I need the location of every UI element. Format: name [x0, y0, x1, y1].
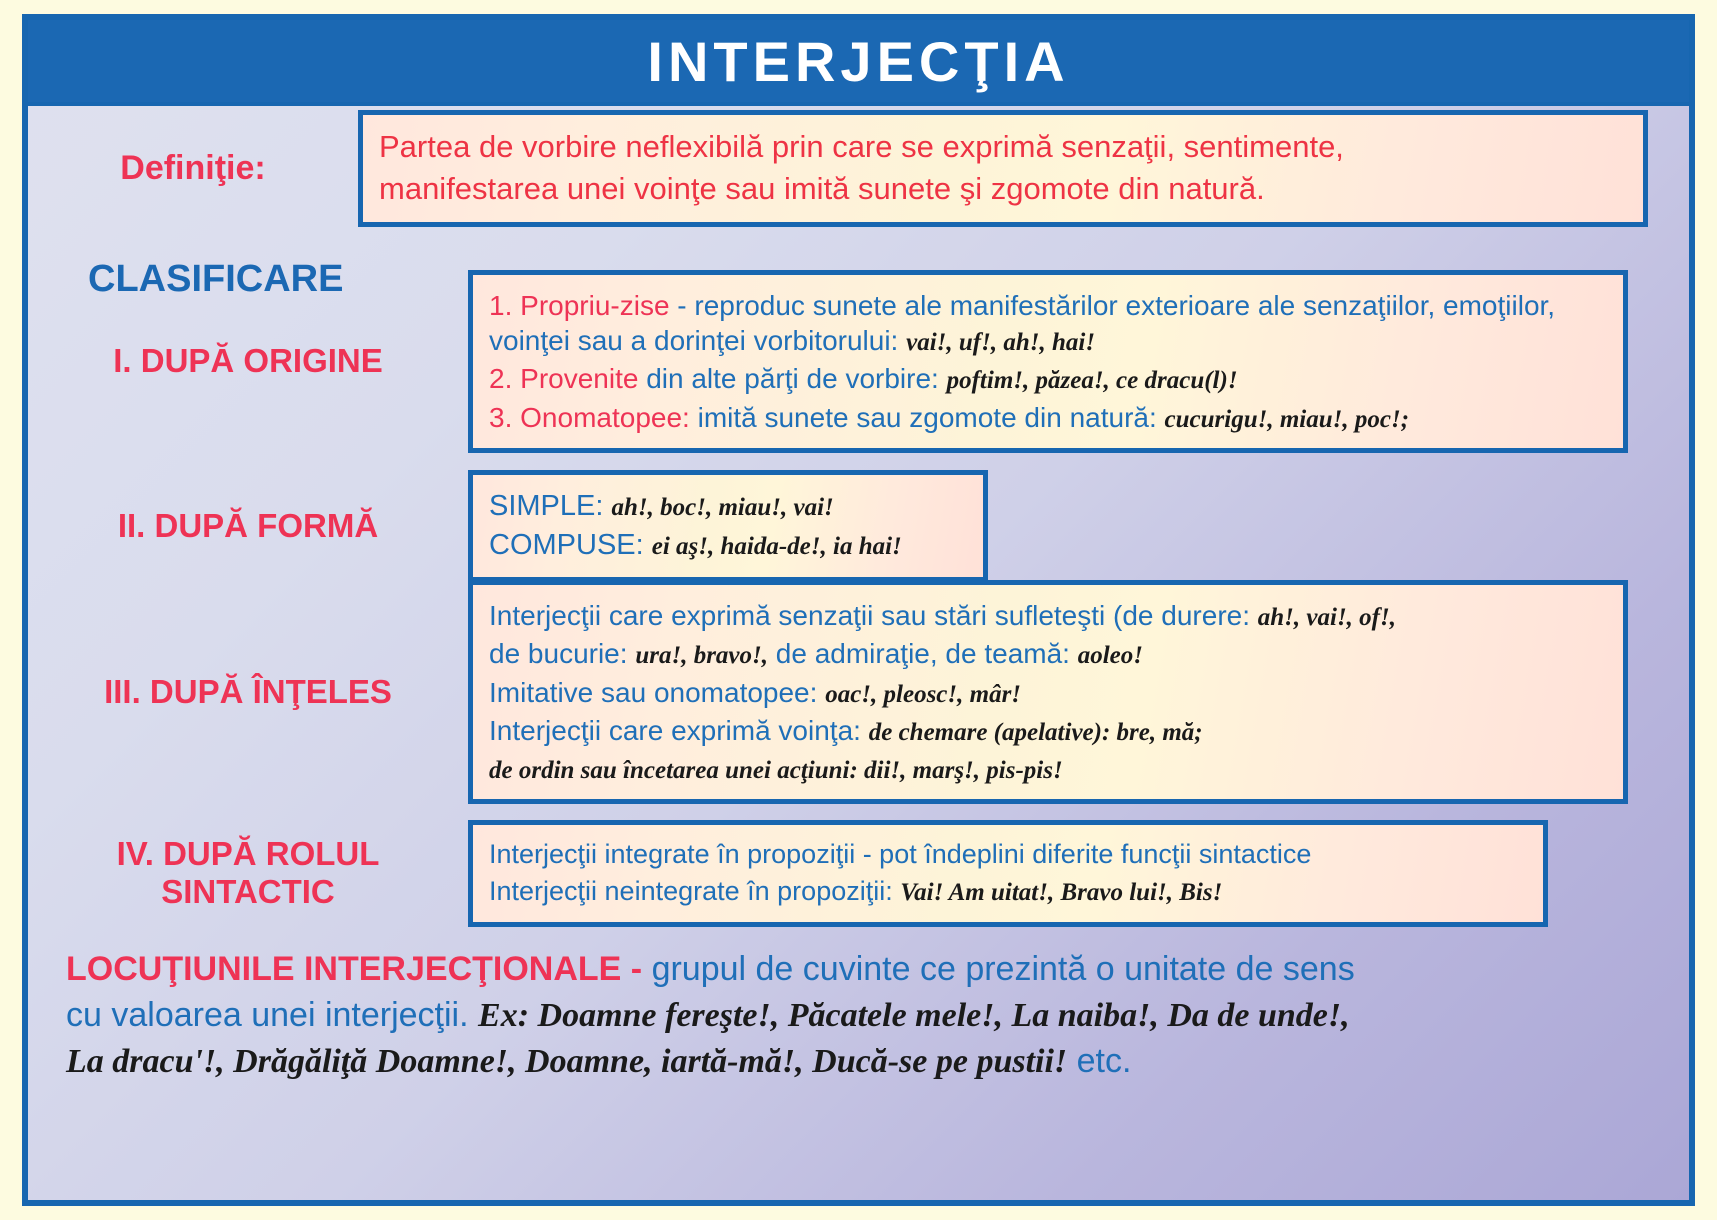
item-number: 3.: [489, 402, 512, 433]
item-examples: Vai! Am uitat!, Bravo lui!, Bis!: [900, 879, 1222, 906]
list-item: Interjecţii neintegrate în propoziţii: V…: [489, 875, 1527, 909]
title-bar: INTERJECŢIA: [28, 20, 1689, 106]
item-term: Propriu-zise: [520, 290, 669, 321]
section-dupa-rolul-sintactic: IV. DUPĂ ROLUL SINTACTIC Interjecţii int…: [28, 820, 1689, 927]
item-examples-b: aoleo!: [1078, 642, 1143, 669]
item-examples-a: ura!, bravo!,: [635, 642, 768, 669]
locutiuni-text-2: cu valoarea unei interjecţii.: [66, 996, 478, 1034]
section-label-ii: II. DUPĂ FORMĂ: [28, 507, 468, 545]
item-text-pre: de bucurie:: [489, 638, 635, 669]
section-body-iv: Interjecţii integrate în propoziţii - po…: [468, 820, 1548, 927]
section-label-iv-line1: IV. DUPĂ ROLUL: [28, 835, 468, 873]
section-label-i: I. DUPĂ ORIGINE: [28, 342, 468, 380]
locutiuni-line-3: La dracu'!, Drăgăliţă Doamne!, Doamne, i…: [66, 1040, 1626, 1084]
list-item: 2. Provenite din alte părţi de vorbire: …: [489, 361, 1607, 396]
definition-line-1: Partea de vorbire neflexibilă prin care …: [379, 128, 1627, 167]
locutiuni-line-1: LOCUŢIUNILE INTERJECŢIONALE - grupul de …: [66, 948, 1626, 991]
locutiuni-etc: etc.: [1067, 1042, 1131, 1080]
item-text-mid: de admiraţie, de teamă:: [768, 638, 1078, 669]
list-item: de ordin sau încetarea unei acţiuni: dii…: [489, 751, 1607, 786]
item-text: Interjecţii care exprimă senzaţii sau st…: [489, 600, 1258, 631]
poster-container: INTERJECŢIA Definiţie: Partea de vorbire…: [22, 14, 1695, 1206]
item-examples: de chemare (apelative): bre, mă;: [869, 719, 1203, 746]
item-text: COMPUSE:: [489, 529, 652, 561]
item-text: imită sunete sau zgomote din natură:: [690, 402, 1165, 433]
definition-label: Definiţie:: [28, 149, 358, 188]
list-item: Imitative sau onomatopee: oac!, pleosc!,…: [489, 675, 1607, 710]
section-body-ii: SIMPLE: ah!, boc!, miau!, vai! COMPUSE: …: [468, 470, 988, 582]
locutiuni-line-2: cu valoarea unei interjecţii. Ex: Doamne…: [66, 994, 1626, 1038]
section-label-iv-line2: SINTACTIC: [28, 873, 468, 911]
list-item: 1. Propriu-zise - reproduc sunete ale ma…: [489, 288, 1607, 358]
section-body-iii: Interjecţii care exprimă senzaţii sau st…: [468, 580, 1628, 804]
item-text: Interjecţii neintegrate în propoziţii:: [489, 876, 900, 906]
locutiuni-heading: LOCUŢIUNILE INTERJECŢIONALE -: [66, 950, 652, 988]
list-item: COMPUSE: ei aş!, haida-de!, ia hai!: [489, 527, 967, 563]
item-examples: oac!, pleosc!, mâr!: [825, 681, 1021, 708]
item-term: Provenite: [520, 363, 638, 394]
item-text: din alte părţi de vorbire:: [638, 363, 946, 394]
section-dupa-origine: I. DUPĂ ORIGINE 1. Propriu-zise - reprod…: [28, 270, 1689, 453]
definition-row: Definiţie: Partea de vorbire neflexibilă…: [28, 110, 1689, 227]
item-examples: ah!, boc!, miau!, vai!: [612, 494, 834, 521]
item-examples: ah!, vai!, of!,: [1258, 604, 1396, 631]
item-text: Interjecţii care exprimă voinţa:: [489, 715, 869, 746]
item-examples: de ordin sau încetarea unei acţiuni: dii…: [489, 757, 1063, 784]
item-examples: vai!, uf!, ah!, hai!: [906, 329, 1095, 356]
item-text: Interjecţii integrate în propoziţii - po…: [489, 839, 1311, 869]
item-text: SIMPLE:: [489, 490, 612, 522]
item-number: 2.: [489, 363, 512, 394]
section-dupa-forma: II. DUPĂ FORMĂ SIMPLE: ah!, boc!, miau!,…: [28, 470, 1689, 582]
list-item: Interjecţii care exprimă senzaţii sau st…: [489, 598, 1607, 633]
locutiuni-interjectionale-block: LOCUŢIUNILE INTERJECŢIONALE - grupul de …: [66, 945, 1626, 1087]
item-examples: cucurigu!, miau!, poc!;: [1165, 406, 1409, 433]
locutiuni-text-1: grupul de cuvinte ce prezintă o unitate …: [652, 950, 1355, 988]
section-dupa-inteles: III. DUPĂ ÎNŢELES Interjecţii care expri…: [28, 580, 1689, 804]
item-term: Onomatopee:: [520, 402, 690, 433]
item-number: 1.: [489, 290, 512, 321]
locutiuni-examples-2: La dracu'!, Drăgăliţă Doamne!, Doamne, i…: [66, 1043, 1067, 1080]
item-text: Imitative sau onomatopee:: [489, 677, 825, 708]
section-label-iii: III. DUPĂ ÎNŢELES: [28, 673, 468, 711]
item-examples: poftim!, păzea!, ce dracu(l)!: [947, 367, 1238, 394]
list-item: Interjecţii care exprimă voinţa: de chem…: [489, 713, 1607, 748]
definition-line-2: manifestarea unei voinţe sau imită sunet…: [379, 170, 1627, 209]
list-item: 3. Onomatopee: imită sunete sau zgomote …: [489, 400, 1607, 435]
section-label-iv: IV. DUPĂ ROLUL SINTACTIC: [28, 835, 468, 911]
list-item: SIMPLE: ah!, boc!, miau!, vai!: [489, 488, 967, 524]
definition-box: Partea de vorbire neflexibilă prin care …: [358, 110, 1648, 227]
locutiuni-examples-1: Ex: Doamne fereşte!, Păcatele mele!, La …: [478, 997, 1350, 1034]
list-item: Interjecţii integrate în propoziţii - po…: [489, 838, 1527, 872]
list-item: de bucurie: ura!, bravo!, de admiraţie, …: [489, 636, 1607, 671]
section-body-i: 1. Propriu-zise - reproduc sunete ale ma…: [468, 270, 1628, 453]
item-examples: ei aş!, haida-de!, ia hai!: [652, 533, 902, 560]
page-title: INTERJECŢIA: [647, 29, 1069, 94]
